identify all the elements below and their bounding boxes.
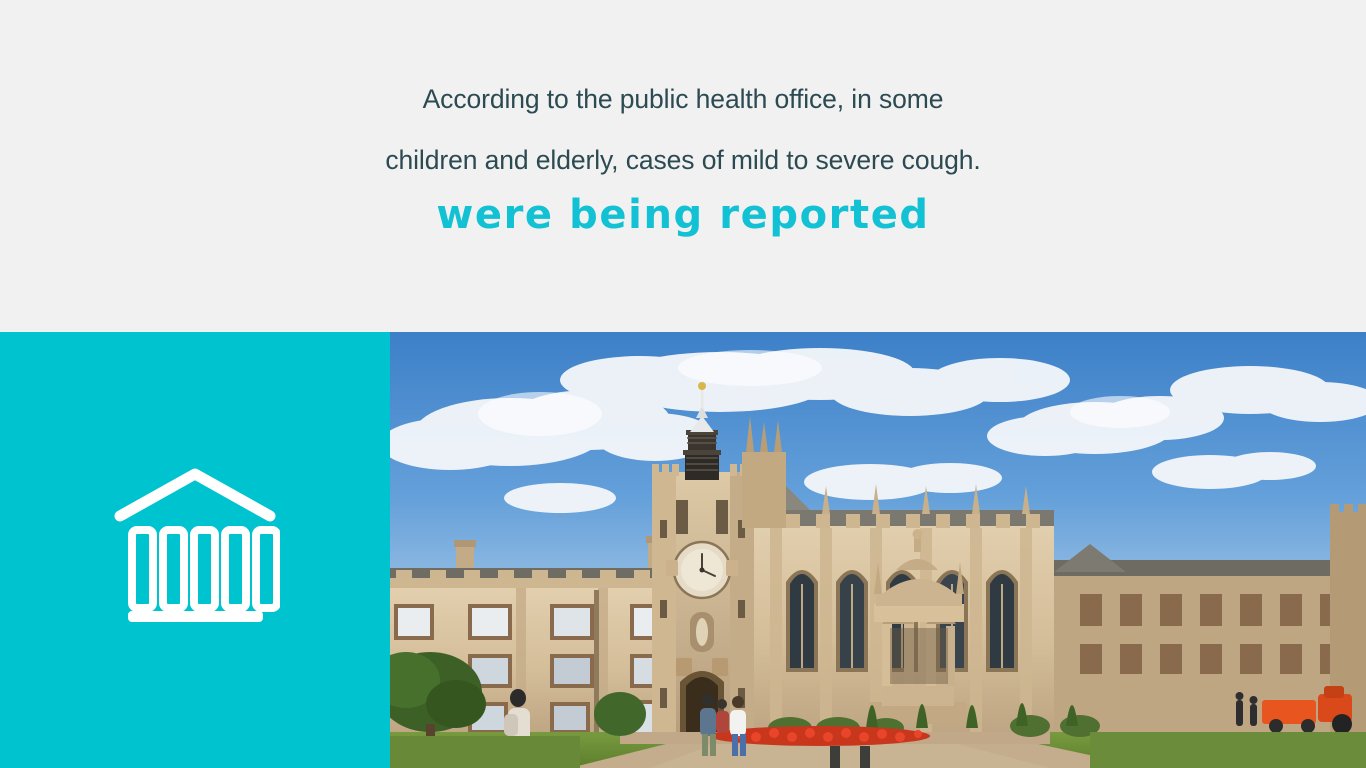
body-line-1: According to the public health office, i… xyxy=(423,86,944,113)
campus-photo xyxy=(390,332,1366,768)
institution-building-icon xyxy=(110,468,280,633)
body-line-2: children and elderly, cases of mild to s… xyxy=(385,147,980,174)
headline: were being reported xyxy=(436,195,929,235)
text-block: According to the public health office, i… xyxy=(0,0,1366,332)
slide-root: According to the public health office, i… xyxy=(0,0,1366,768)
icon-panel xyxy=(0,332,390,768)
bottom-band xyxy=(0,332,1366,768)
